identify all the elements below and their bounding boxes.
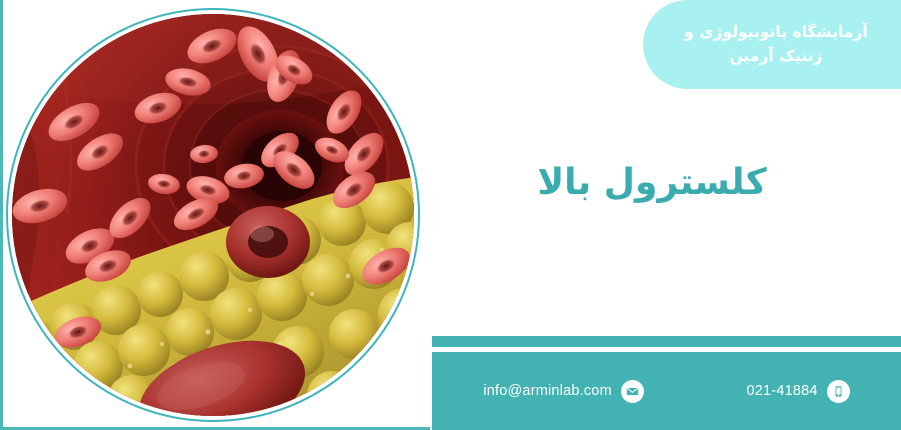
frame-left-border (0, 0, 3, 430)
promo-banner: آزمایشگاه پاتوبیولوژی و ژنتیک آرمین کلست… (0, 0, 901, 430)
email-label: info@arminlab.com (483, 383, 612, 399)
contact-phone[interactable]: 021-41884 (747, 380, 850, 403)
contact-email[interactable]: info@arminlab.com (483, 380, 644, 403)
envelope-icon (621, 380, 644, 403)
mobile-phone-icon (827, 380, 850, 403)
hero-image (6, 8, 420, 422)
page-title: کلسترول بالا (432, 160, 872, 207)
brand-header-title: آزمایشگاه پاتوبیولوژی و ژنتیک آرمین (669, 21, 883, 68)
footer-contact-row: info@arminlab.com 021-41884 (432, 352, 901, 430)
phone-label: 021-41884 (747, 383, 818, 399)
brand-header-pill: آزمایشگاه پاتوبیولوژی و ژنتیک آرمین (643, 0, 901, 89)
footer-top-stripe (432, 336, 901, 347)
hero-image-ring (6, 8, 420, 422)
